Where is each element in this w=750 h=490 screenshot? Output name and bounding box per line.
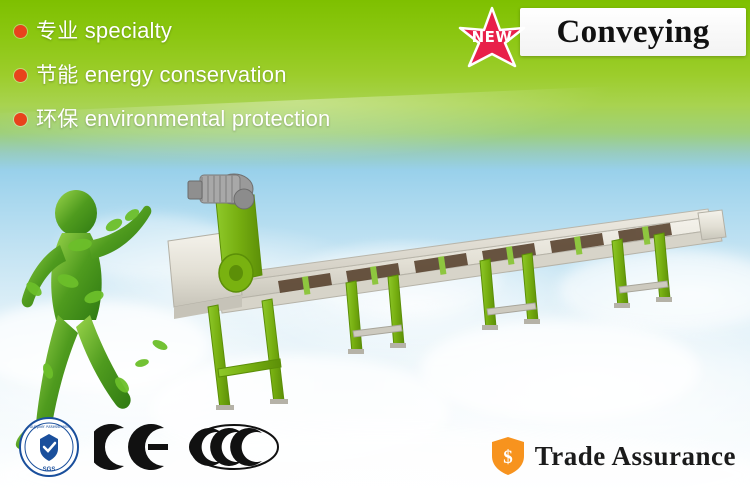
belt-conveyor-machine (150, 155, 740, 455)
shield-dollar-icon: $ (491, 436, 525, 476)
trade-assurance-label: Trade Assurance (535, 441, 736, 472)
bullet-dot-icon (14, 69, 27, 82)
new-badge: NEW (455, 6, 529, 78)
feature-list: 专业 specialty 节能 energy conservation 环保 e… (14, 18, 330, 133)
page-title: Conveying (556, 14, 709, 51)
feature-label: 环保 environmental protection (36, 106, 330, 133)
dollar-symbol: $ (503, 447, 513, 468)
bullet-dot-icon (14, 113, 27, 126)
certification-badges: Supplier Assessment SGS (18, 416, 280, 478)
feature-item: 环保 environmental protection (14, 106, 330, 133)
feature-label-en: environmental protection (85, 106, 331, 131)
feature-label-cn: 专业 (36, 20, 78, 43)
feature-label-en: specialty (85, 18, 172, 43)
feature-label-cn: 节能 (36, 64, 78, 87)
feature-item: 专业 specialty (14, 18, 330, 45)
feature-label-cn: 环保 (36, 108, 78, 131)
product-banner: 专业 specialty 节能 energy conservation 环保 e… (0, 0, 750, 490)
feature-label: 专业 specialty (36, 18, 172, 45)
ce-mark-icon (94, 424, 174, 470)
ccc-mark-icon (188, 423, 280, 471)
feature-label-en: energy conservation (85, 62, 287, 87)
conveyor-illustration (150, 155, 740, 455)
new-badge-label: NEW (455, 28, 529, 46)
feature-label: 节能 energy conservation (36, 62, 287, 89)
seal-bottom-label: SGS (43, 467, 56, 473)
bullet-dot-icon (14, 25, 27, 38)
title-plate: Conveying (520, 8, 746, 56)
trade-assurance-badge: $ Trade Assurance (491, 436, 736, 476)
seal-top-label: Supplier Assessment (29, 424, 69, 429)
feature-item: 节能 energy conservation (14, 62, 330, 89)
supplier-assessment-seal-icon: Supplier Assessment SGS (18, 416, 80, 478)
